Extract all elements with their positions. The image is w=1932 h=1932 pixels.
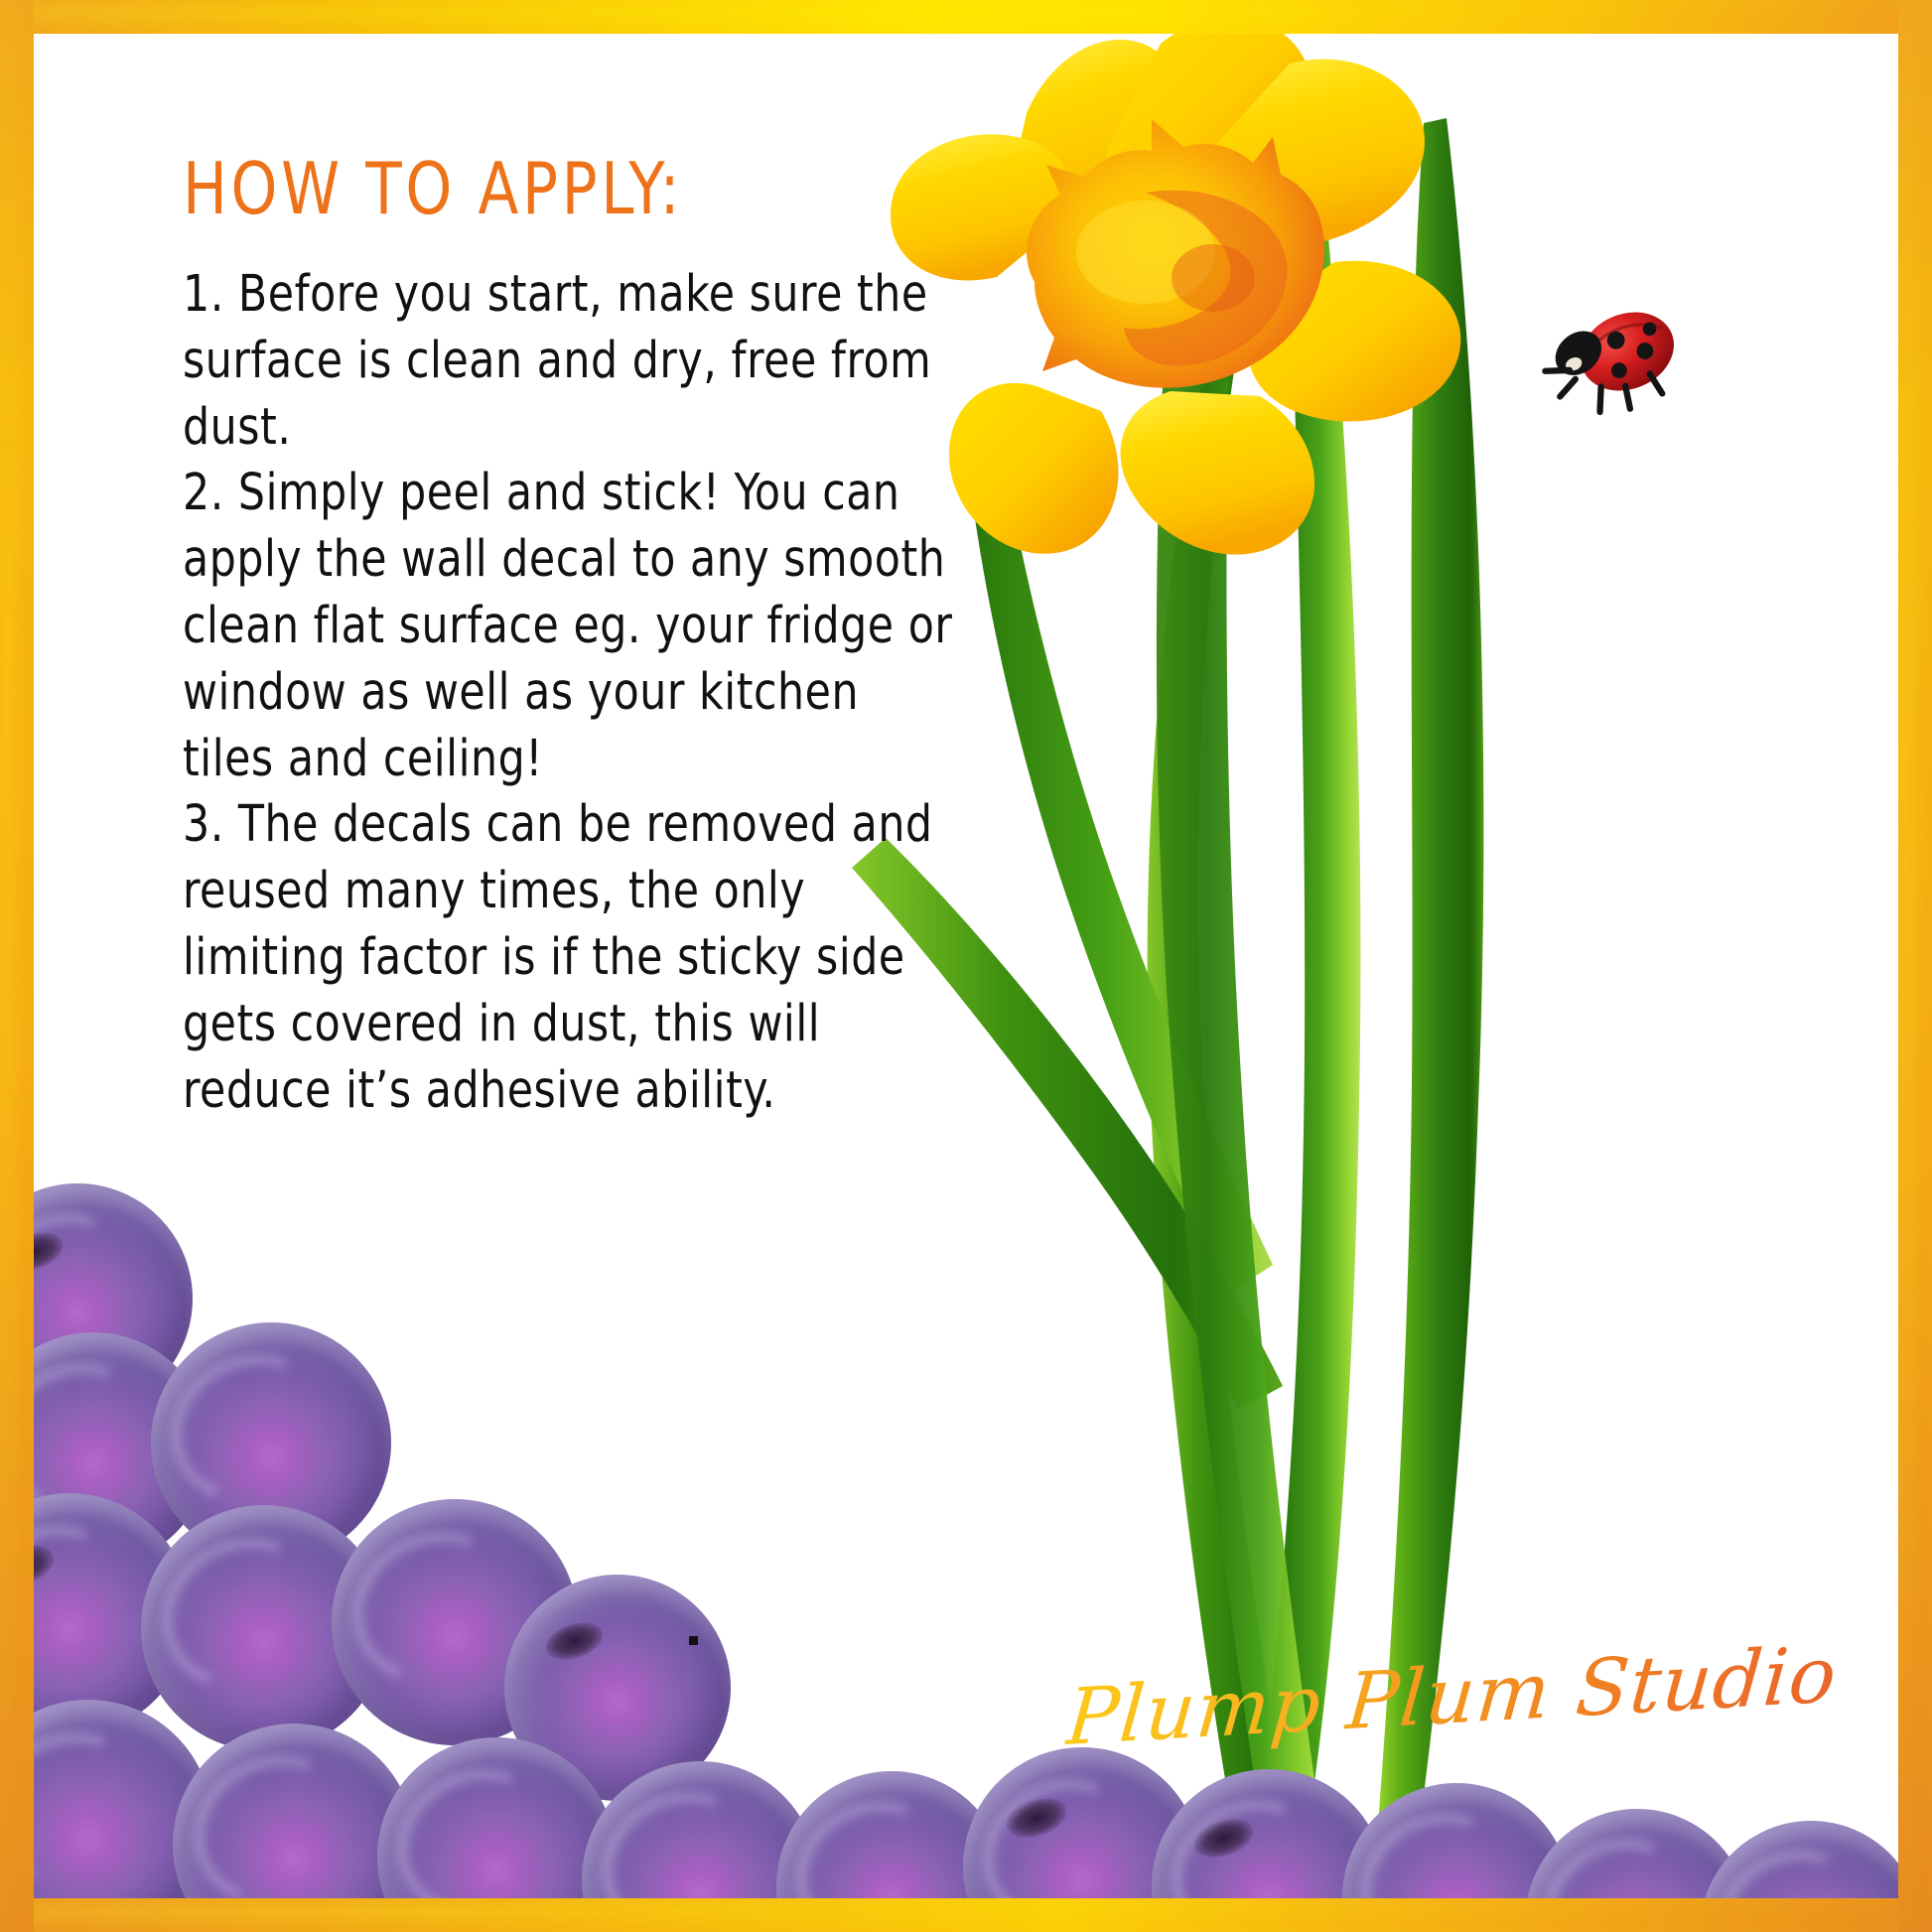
ladybug-shell bbox=[1569, 299, 1686, 404]
ladybug-head-spot bbox=[1564, 355, 1584, 373]
ladybug-legs bbox=[1545, 334, 1663, 433]
ladybug-wing-split bbox=[1586, 314, 1663, 357]
stray-dot-mark bbox=[689, 1636, 698, 1645]
instructions-block: HOW TO APPLY: 1. Before you start, make … bbox=[183, 153, 1017, 1124]
border-bottom bbox=[0, 1898, 1932, 1932]
leaf-right bbox=[1253, 88, 1360, 1851]
plum-crease bbox=[34, 1501, 154, 1699]
trumpet-inner-shadow bbox=[1124, 191, 1288, 366]
leaf-center-tall bbox=[1157, 203, 1324, 1851]
plum-crease bbox=[171, 1731, 378, 1898]
plum bbox=[1700, 1821, 1898, 1898]
trumpet-core bbox=[1172, 244, 1255, 312]
petal-upper-right bbox=[1198, 60, 1425, 248]
poster-canvas: HOW TO APPLY: 1. Before you start, make … bbox=[34, 34, 1898, 1898]
plum-crease bbox=[375, 1745, 580, 1898]
plum-crease bbox=[149, 1330, 355, 1526]
instruction-step-2: 2. Simply peel and stick! You can apply … bbox=[183, 461, 958, 792]
brand-signature: Plump Plum Studio bbox=[1063, 1630, 1841, 1763]
page-title: HOW TO APPLY: bbox=[183, 153, 950, 224]
border-top bbox=[0, 0, 1932, 34]
instruction-step-3: 3. The decals can be removed and reused … bbox=[183, 792, 958, 1124]
plum-crease bbox=[1698, 1828, 1890, 1898]
petal-right bbox=[1248, 261, 1460, 422]
border-right bbox=[1898, 0, 1932, 1932]
plum-crease bbox=[961, 1755, 1166, 1898]
petal-upper-left bbox=[1009, 40, 1184, 230]
plum-crease bbox=[1150, 1777, 1351, 1898]
plum-crease bbox=[774, 1779, 973, 1898]
ladybug-spot-3 bbox=[1609, 360, 1630, 381]
poster-card: HOW TO APPLY: 1. Before you start, make … bbox=[0, 0, 1932, 1932]
ladybug-spot-2 bbox=[1634, 341, 1656, 362]
petal-lower-right bbox=[1121, 391, 1314, 555]
border-left bbox=[0, 0, 34, 1932]
ladybug-spot-4 bbox=[1641, 320, 1659, 338]
flower-trumpet bbox=[1027, 119, 1324, 388]
leaf-mid bbox=[1148, 332, 1295, 1851]
trumpet-highlight bbox=[1076, 201, 1215, 304]
plum-dimple bbox=[541, 1616, 608, 1667]
plum-crease bbox=[1523, 1816, 1718, 1898]
ladybug-on-petal bbox=[1534, 294, 1692, 434]
ladybug-head bbox=[1547, 322, 1610, 384]
plum-crease bbox=[1340, 1791, 1538, 1898]
instruction-step-1: 1. Before you start, make sure the surfa… bbox=[183, 262, 958, 461]
petal-top bbox=[1106, 34, 1311, 209]
plum-crease bbox=[139, 1514, 349, 1714]
plum-crease bbox=[34, 1709, 175, 1898]
ladybug-spot-1 bbox=[1604, 329, 1627, 351]
leaf-far-right bbox=[1376, 118, 1483, 1851]
